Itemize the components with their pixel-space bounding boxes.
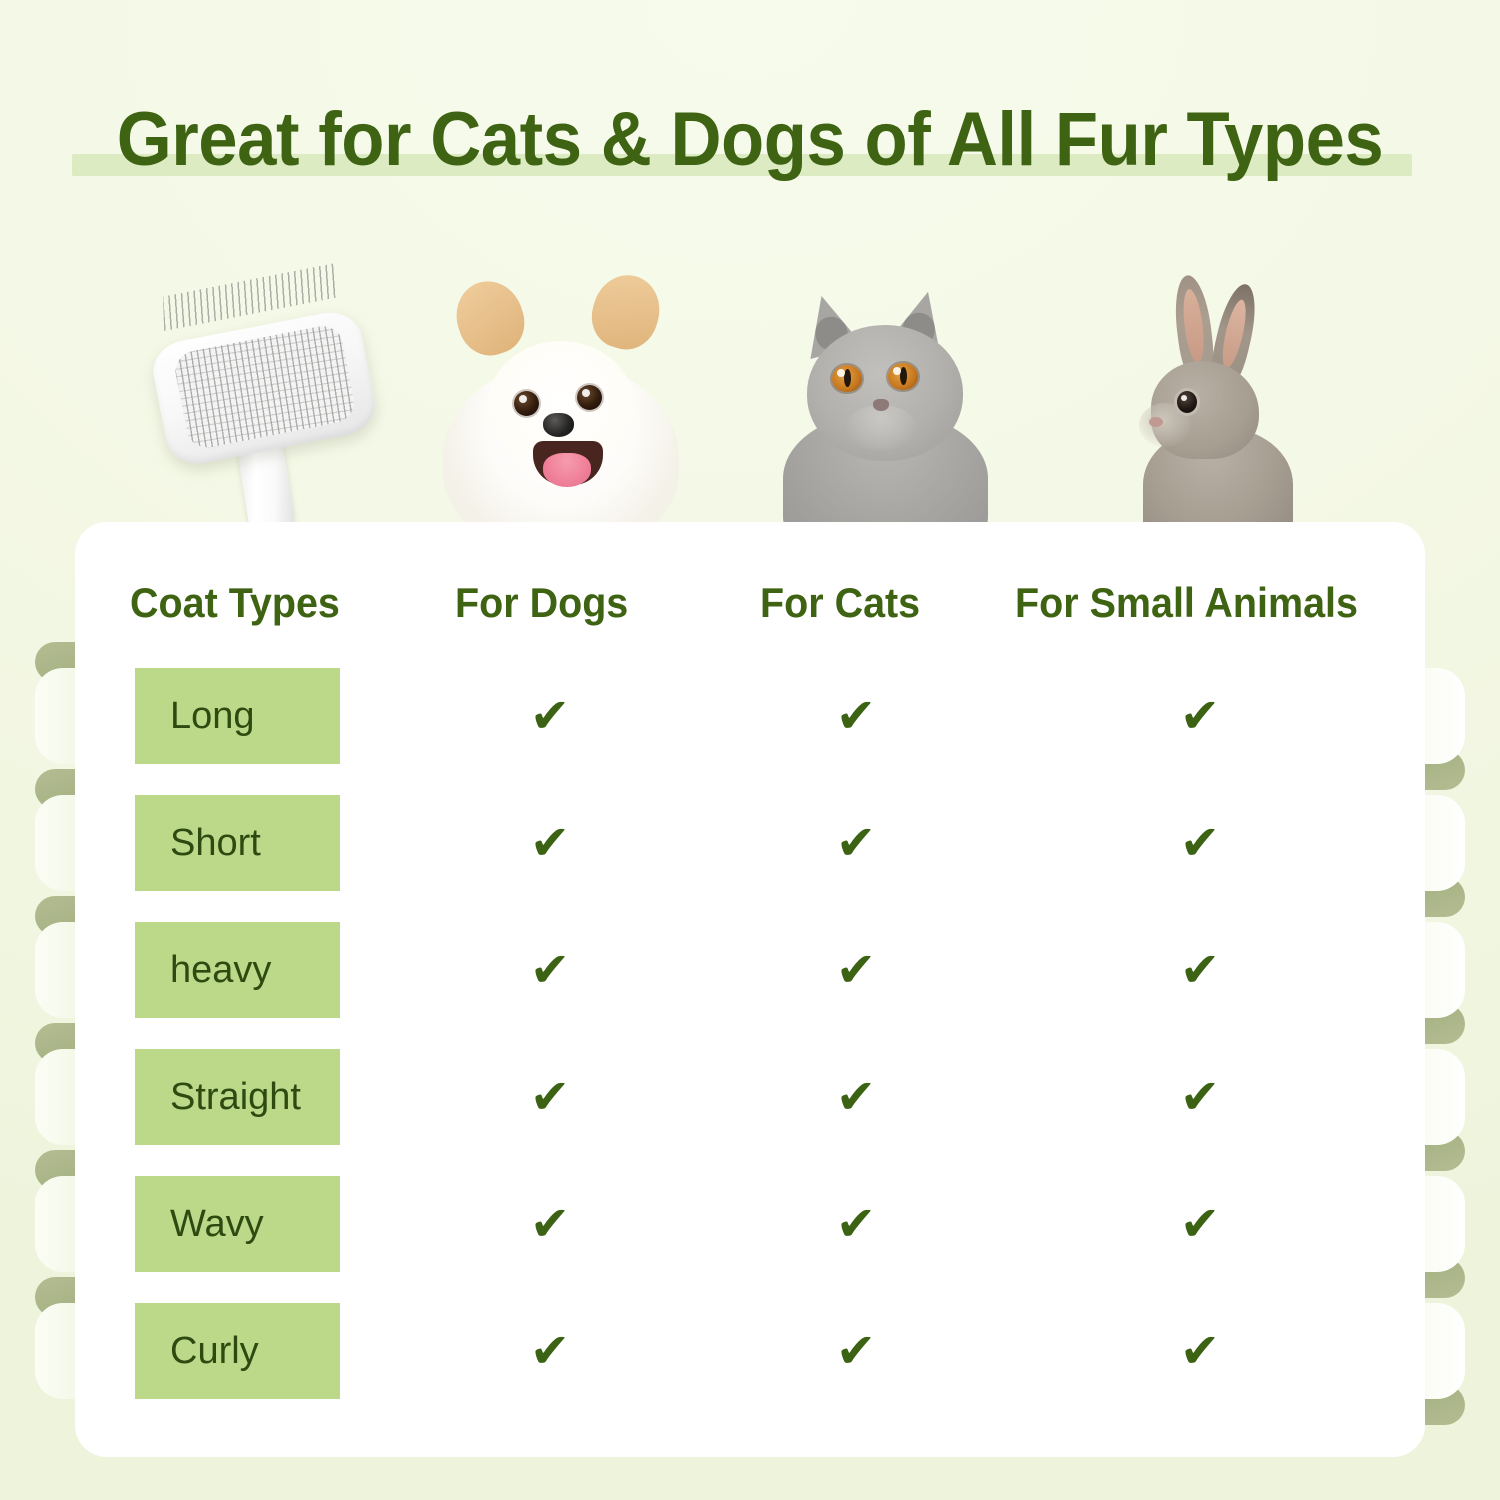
- check-cats-icon: ✔: [826, 922, 886, 1018]
- coat-type-cell: Long: [135, 668, 340, 764]
- coat-type-label: Straight: [170, 1076, 301, 1119]
- coat-type-label: Long: [170, 695, 255, 738]
- coat-type-label: Wavy: [170, 1203, 264, 1246]
- check-cats-icon: ✔: [826, 1303, 886, 1399]
- check-small-animals-icon: ✔: [1170, 1176, 1230, 1272]
- check-dogs-icon: ✔: [520, 795, 580, 891]
- column-header-for-cats: For Cats: [760, 579, 920, 627]
- check-dogs-icon: ✔: [520, 922, 580, 1018]
- table-row: Short✔✔✔: [0, 795, 1500, 891]
- column-header-for-dogs: For Dogs: [455, 579, 628, 627]
- check-cats-icon: ✔: [826, 795, 886, 891]
- coat-type-cell: Curly: [135, 1303, 340, 1399]
- coat-type-label: Curly: [170, 1330, 259, 1373]
- coat-type-cell: heavy: [135, 922, 340, 1018]
- table-row: Wavy✔✔✔: [0, 1176, 1500, 1272]
- coat-type-cell: Short: [135, 795, 340, 891]
- table-row: heavy✔✔✔: [0, 922, 1500, 1018]
- table-row: Long✔✔✔: [0, 668, 1500, 764]
- check-dogs-icon: ✔: [520, 1176, 580, 1272]
- check-dogs-icon: ✔: [520, 1049, 580, 1145]
- check-dogs-icon: ✔: [520, 668, 580, 764]
- coat-type-label: Short: [170, 822, 261, 865]
- check-small-animals-icon: ✔: [1170, 922, 1230, 1018]
- table-row: Straight✔✔✔: [0, 1049, 1500, 1145]
- check-small-animals-icon: ✔: [1170, 668, 1230, 764]
- check-cats-icon: ✔: [826, 668, 886, 764]
- coat-type-label: heavy: [170, 949, 271, 992]
- check-small-animals-icon: ✔: [1170, 1303, 1230, 1399]
- check-small-animals-icon: ✔: [1170, 795, 1230, 891]
- table-row: Curly✔✔✔: [0, 1303, 1500, 1399]
- column-header-small-animals: For Small Animals: [1015, 579, 1358, 627]
- check-cats-icon: ✔: [826, 1049, 886, 1145]
- check-cats-icon: ✔: [826, 1176, 886, 1272]
- coat-type-cell: Wavy: [135, 1176, 340, 1272]
- table-header-row: Coat Types For Dogs For Cats For Small A…: [75, 560, 1425, 646]
- coat-type-cell: Straight: [135, 1049, 340, 1145]
- check-small-animals-icon: ✔: [1170, 1049, 1230, 1145]
- check-dogs-icon: ✔: [520, 1303, 580, 1399]
- column-header-coat-types: Coat Types: [130, 579, 340, 627]
